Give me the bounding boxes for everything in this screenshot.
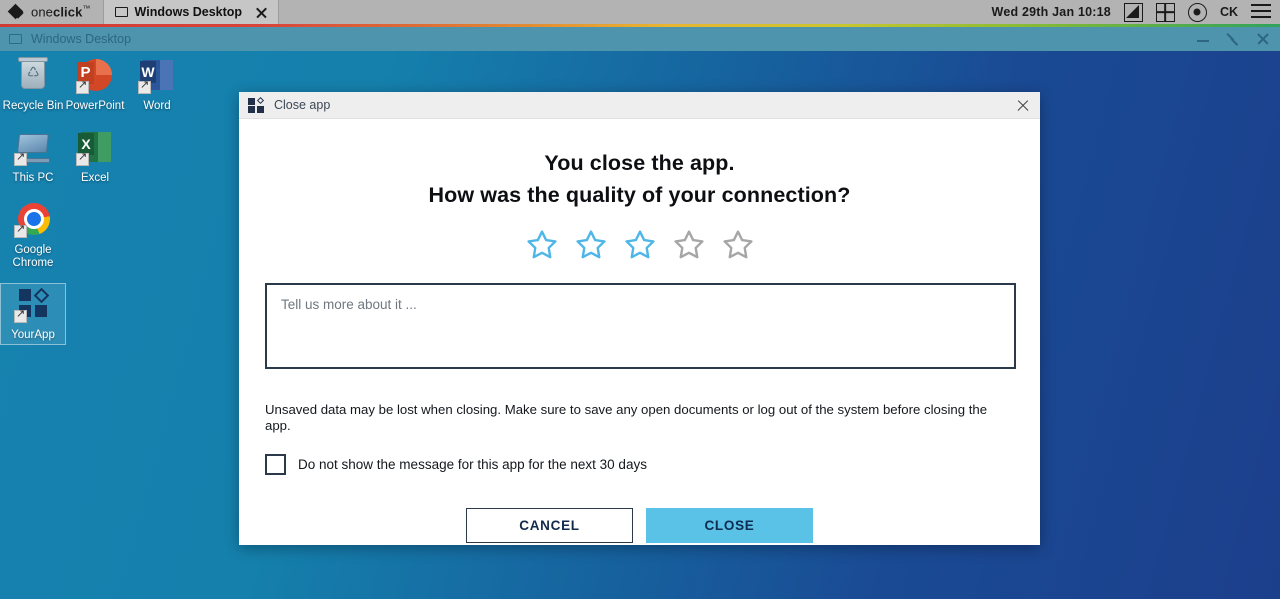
resize-icon[interactable]: [1124, 3, 1143, 22]
shortcut-badge-icon: [76, 153, 89, 166]
shortcut-badge-icon: [76, 81, 89, 94]
monitor-icon: [115, 7, 128, 17]
feedback-textarea[interactable]: [265, 283, 1016, 369]
session-window-bar: Windows Desktop: [0, 27, 1280, 51]
desktop-icon-excel[interactable]: X Excel: [64, 129, 126, 185]
hamburger-menu-icon[interactable]: [1251, 4, 1271, 20]
cancel-button[interactable]: CANCEL: [466, 508, 633, 543]
restore-icon[interactable]: [1226, 32, 1240, 46]
desktop-icon-powerpoint[interactable]: P PowerPoint: [64, 57, 126, 113]
excel-icon: X: [76, 129, 114, 167]
dialog-actions: CANCEL CLOSE: [265, 508, 1014, 543]
desktop-icon-label: Recycle Bin: [2, 100, 64, 113]
unsaved-data-warning: Unsaved data may be lost when closing. M…: [265, 402, 1014, 434]
top-bar-right-cluster: Wed 29th Jan 10:18 CK: [992, 0, 1280, 24]
shortcut-badge-icon: [14, 310, 27, 323]
screen: oneclick™ Windows Desktop Wed 29th Jan 1…: [0, 0, 1280, 599]
dialog-heading: You close the app. How was the quality o…: [265, 151, 1014, 208]
brand-trademark: ™: [82, 4, 90, 13]
yourapp-icon: [14, 286, 52, 324]
desktop-icon-label: This PC: [2, 172, 64, 185]
desktop-icon-this-pc[interactable]: This PC: [2, 129, 64, 185]
do-not-show-row[interactable]: Do not show the message for this app for…: [265, 454, 1014, 475]
desktop-icon-label: Excel: [64, 172, 126, 185]
user-initials[interactable]: CK: [1220, 5, 1238, 19]
do-not-show-checkbox[interactable]: [265, 454, 286, 475]
powerpoint-icon: P: [76, 57, 114, 95]
clock: Wed 29th Jan 10:18: [992, 5, 1111, 19]
rating-stars[interactable]: [265, 228, 1014, 262]
shortcut-badge-icon: [138, 81, 151, 94]
brand-name-bold: click: [53, 5, 82, 20]
oneclick-logo-icon: [9, 5, 24, 20]
star-icon-3[interactable]: [622, 228, 658, 262]
desktop-icon-yourapp[interactable]: YourApp: [2, 286, 64, 342]
this-pc-icon: [14, 129, 52, 167]
shortcut-badge-icon: [14, 153, 27, 166]
close-button[interactable]: CLOSE: [646, 508, 813, 543]
desktop-icon-label: Word: [126, 100, 188, 113]
tab-label: Windows Desktop: [135, 5, 243, 19]
recycle-bin-icon: [14, 57, 52, 95]
monitor-icon: [9, 34, 22, 44]
dialog-heading-line-2: How was the quality of your connection?: [265, 183, 1014, 208]
close-icon[interactable]: [1256, 32, 1270, 46]
close-app-dialog: Close app You close the app. How was the…: [239, 92, 1040, 545]
tab-windows-desktop[interactable]: Windows Desktop: [104, 0, 280, 24]
session-window-title: Windows Desktop: [31, 32, 131, 46]
shortcut-badge-icon: [14, 225, 27, 238]
tab-close-icon[interactable]: [254, 5, 269, 20]
word-icon: W: [138, 57, 176, 95]
star-icon-2[interactable]: [573, 228, 609, 262]
dialog-body: You close the app. How was the quality o…: [239, 151, 1040, 543]
session-window-title-group: Windows Desktop: [0, 32, 131, 46]
dialog-title-bar: Close app: [239, 92, 1040, 119]
do-not-show-label: Do not show the message for this app for…: [298, 457, 647, 472]
oneclick-brand[interactable]: oneclick™: [0, 0, 104, 24]
star-icon-1[interactable]: [524, 228, 560, 262]
oneclick-app-icon: [248, 97, 266, 113]
minimize-icon[interactable]: [1196, 32, 1210, 46]
star-icon-4[interactable]: [671, 228, 707, 262]
dialog-title: Close app: [274, 98, 330, 112]
desktop-icon-label: PowerPoint: [64, 100, 126, 113]
brand-name-light: one: [31, 5, 53, 20]
grid-icon[interactable]: [1156, 3, 1175, 22]
top-app-bar: oneclick™ Windows Desktop Wed 29th Jan 1…: [0, 0, 1280, 24]
desktop-icon-word[interactable]: W Word: [126, 57, 188, 113]
session-window-controls: [1196, 32, 1280, 46]
brand-text: oneclick™: [31, 4, 91, 19]
desktop-icon-google-chrome[interactable]: Google Chrome: [2, 201, 64, 269]
chrome-icon: [14, 201, 52, 239]
dialog-heading-line-1: You close the app.: [265, 151, 1014, 176]
dialog-close-icon[interactable]: [1006, 92, 1040, 119]
record-icon[interactable]: [1188, 3, 1207, 22]
desktop-icon-recycle-bin[interactable]: Recycle Bin: [2, 57, 64, 113]
desktop-icon-label: Google Chrome: [2, 244, 64, 269]
star-icon-5[interactable]: [720, 228, 756, 262]
